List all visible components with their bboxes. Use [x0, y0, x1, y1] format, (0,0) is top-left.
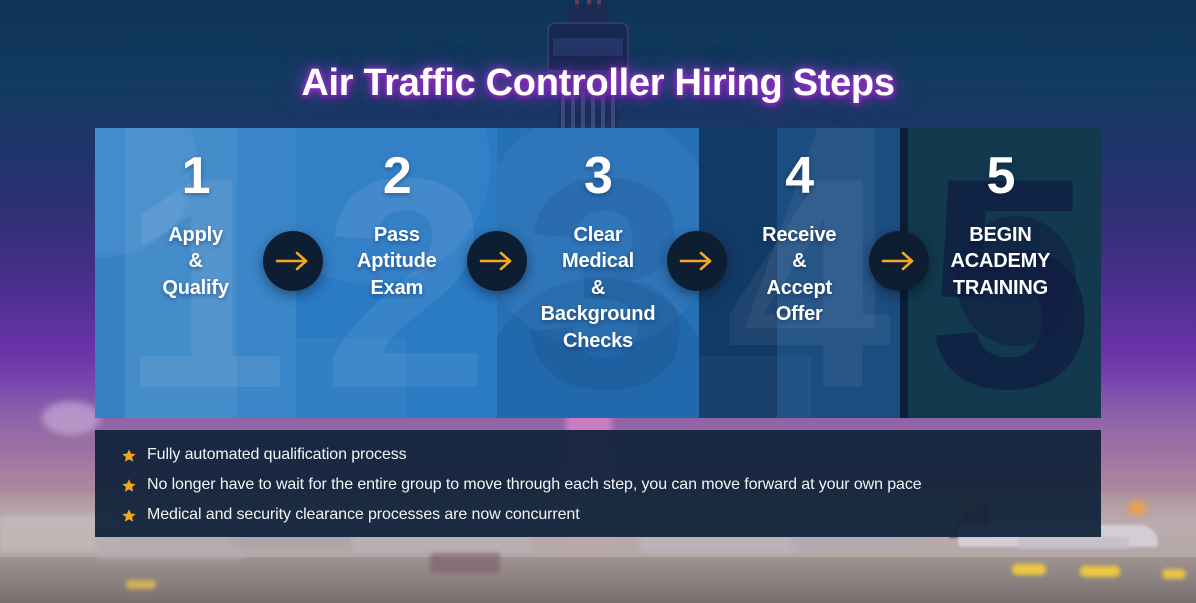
highlight-item: Medical and security clearance processes…: [121, 505, 1101, 529]
star-icon: [121, 478, 137, 494]
step-4-decor-block: [699, 356, 811, 418]
right-arrow-icon: [479, 250, 515, 272]
star-icon: [121, 508, 137, 524]
step-4-number: 4: [699, 150, 900, 202]
step-3-body: 3 Clear Medical & Background Checks: [497, 128, 698, 354]
step-column-2[interactable]: 2 2 Pass Aptitude Exam: [296, 128, 497, 418]
tower-cab-glass: [553, 38, 623, 56]
step-2-body: 2 Pass Aptitude Exam: [296, 128, 497, 301]
step-column-4[interactable]: 4 4 Receive & Accept Offer: [699, 128, 900, 418]
star-icon: [121, 448, 137, 464]
runway-light: [1162, 569, 1186, 579]
step-3-number: 3: [497, 150, 698, 202]
step-column-5[interactable]: 5 5 BEGIN ACADEMY TRAINING: [900, 128, 1101, 418]
right-arrow-icon: [275, 250, 311, 272]
highlight-item: Fully automated qualification process: [121, 445, 1101, 469]
step-2-decor-block: [296, 338, 406, 418]
step-4-label: Receive & Accept Offer: [699, 222, 900, 328]
right-arrow-icon: [881, 250, 917, 272]
step-1-number: 1: [95, 150, 296, 202]
runway-light: [42, 401, 100, 435]
ground-vehicle: [430, 553, 500, 573]
step-5-number: 5: [900, 150, 1101, 202]
runway-light: [1128, 501, 1146, 515]
step-3-label: Clear Medical & Background Checks: [497, 222, 698, 354]
arrow-step-2-to-3[interactable]: [467, 231, 527, 291]
step-column-3[interactable]: 3 3 Clear Medical & Background Checks: [497, 128, 698, 418]
highlights-panel: Fully automated qualification process No…: [95, 430, 1101, 537]
highlight-text: Fully automated qualification process: [147, 445, 407, 465]
arrow-step-4-to-5[interactable]: [869, 231, 929, 291]
highlight-text: No longer have to wait for the entire gr…: [147, 475, 922, 495]
step-2-number: 2: [296, 150, 497, 202]
infographic-root: Air Traffic Controller Hiring Steps 1 1 …: [0, 0, 1196, 603]
step-4-body: 4 Receive & Accept Offer: [699, 128, 900, 328]
highlight-text: Medical and security clearance processes…: [147, 505, 580, 525]
highlight-item: No longer have to wait for the entire gr…: [121, 475, 1101, 499]
page-title: Air Traffic Controller Hiring Steps: [0, 62, 1196, 105]
steps-panel: 1 1 Apply & Qualify 2 2 Pass Aptitude Ex…: [95, 128, 1101, 418]
step-5-label: BEGIN ACADEMY TRAINING: [900, 222, 1101, 301]
step-5-body: 5 BEGIN ACADEMY TRAINING: [900, 128, 1101, 301]
arrow-step-3-to-4[interactable]: [667, 231, 727, 291]
runway-light: [126, 580, 156, 589]
runway-light: [1012, 564, 1046, 575]
tower-roof: [567, 4, 609, 24]
arrow-step-1-to-2[interactable]: [263, 231, 323, 291]
right-arrow-icon: [679, 250, 715, 272]
runway-light: [1080, 566, 1120, 577]
airplane-wing: [1018, 537, 1128, 549]
